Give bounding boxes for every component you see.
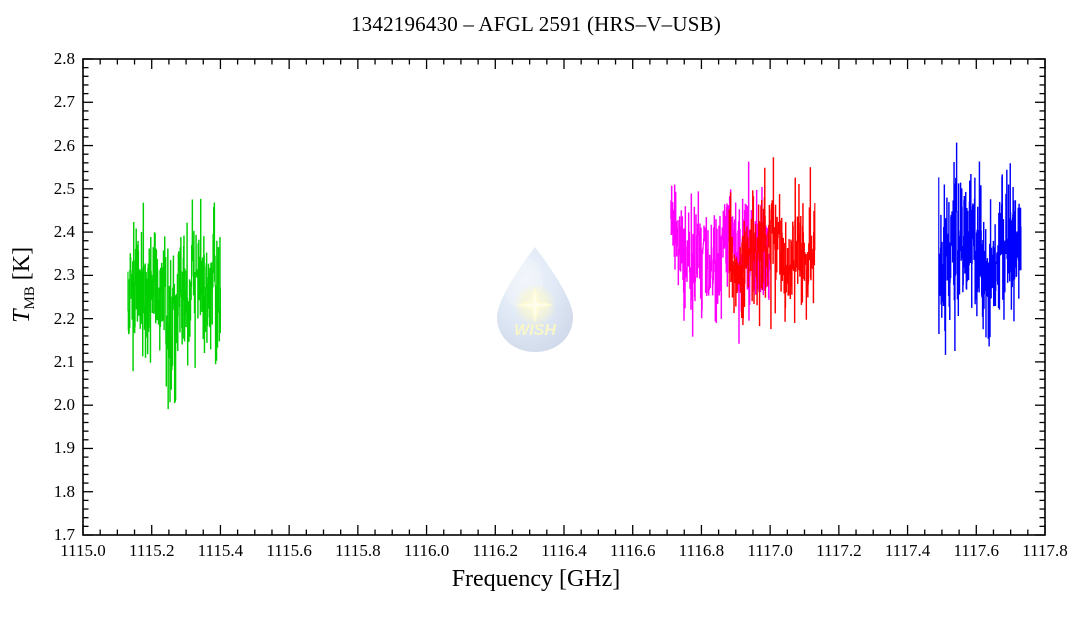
y-tick-label: 2.8 — [17, 49, 75, 69]
y-axis-label-unit: [K] — [9, 247, 35, 286]
x-tick-label: 1117.8 — [1005, 541, 1072, 561]
spectrum-red — [729, 158, 815, 329]
data-series-group — [128, 143, 1021, 408]
y-axis-label-subscript: MB — [22, 286, 38, 309]
y-tick-label: 2.6 — [17, 136, 75, 156]
plot-frame — [83, 59, 1045, 535]
spectrum-blue — [938, 143, 1020, 354]
y-tick-label: 2.1 — [17, 352, 75, 372]
spectrum-green — [128, 199, 221, 408]
axes-frame — [83, 59, 1045, 535]
y-tick-label: 2.7 — [17, 92, 75, 112]
y-axis-label: TMB [K] — [9, 225, 39, 345]
y-axis-label-symbol: T — [9, 310, 35, 323]
y-tick-label: 1.9 — [17, 438, 75, 458]
y-tick-label: 1.8 — [17, 482, 75, 502]
y-tick-label: 2.0 — [17, 395, 75, 415]
figure-container: 1342196430 – AFGL 2591 (HRS–V–USB) 1.71.… — [0, 0, 1072, 618]
x-axis-label: Frequency [GHz] — [0, 566, 1072, 593]
axis-ticks — [83, 59, 1045, 535]
y-tick-label: 2.5 — [17, 179, 75, 199]
plot-canvas — [0, 0, 1072, 618]
